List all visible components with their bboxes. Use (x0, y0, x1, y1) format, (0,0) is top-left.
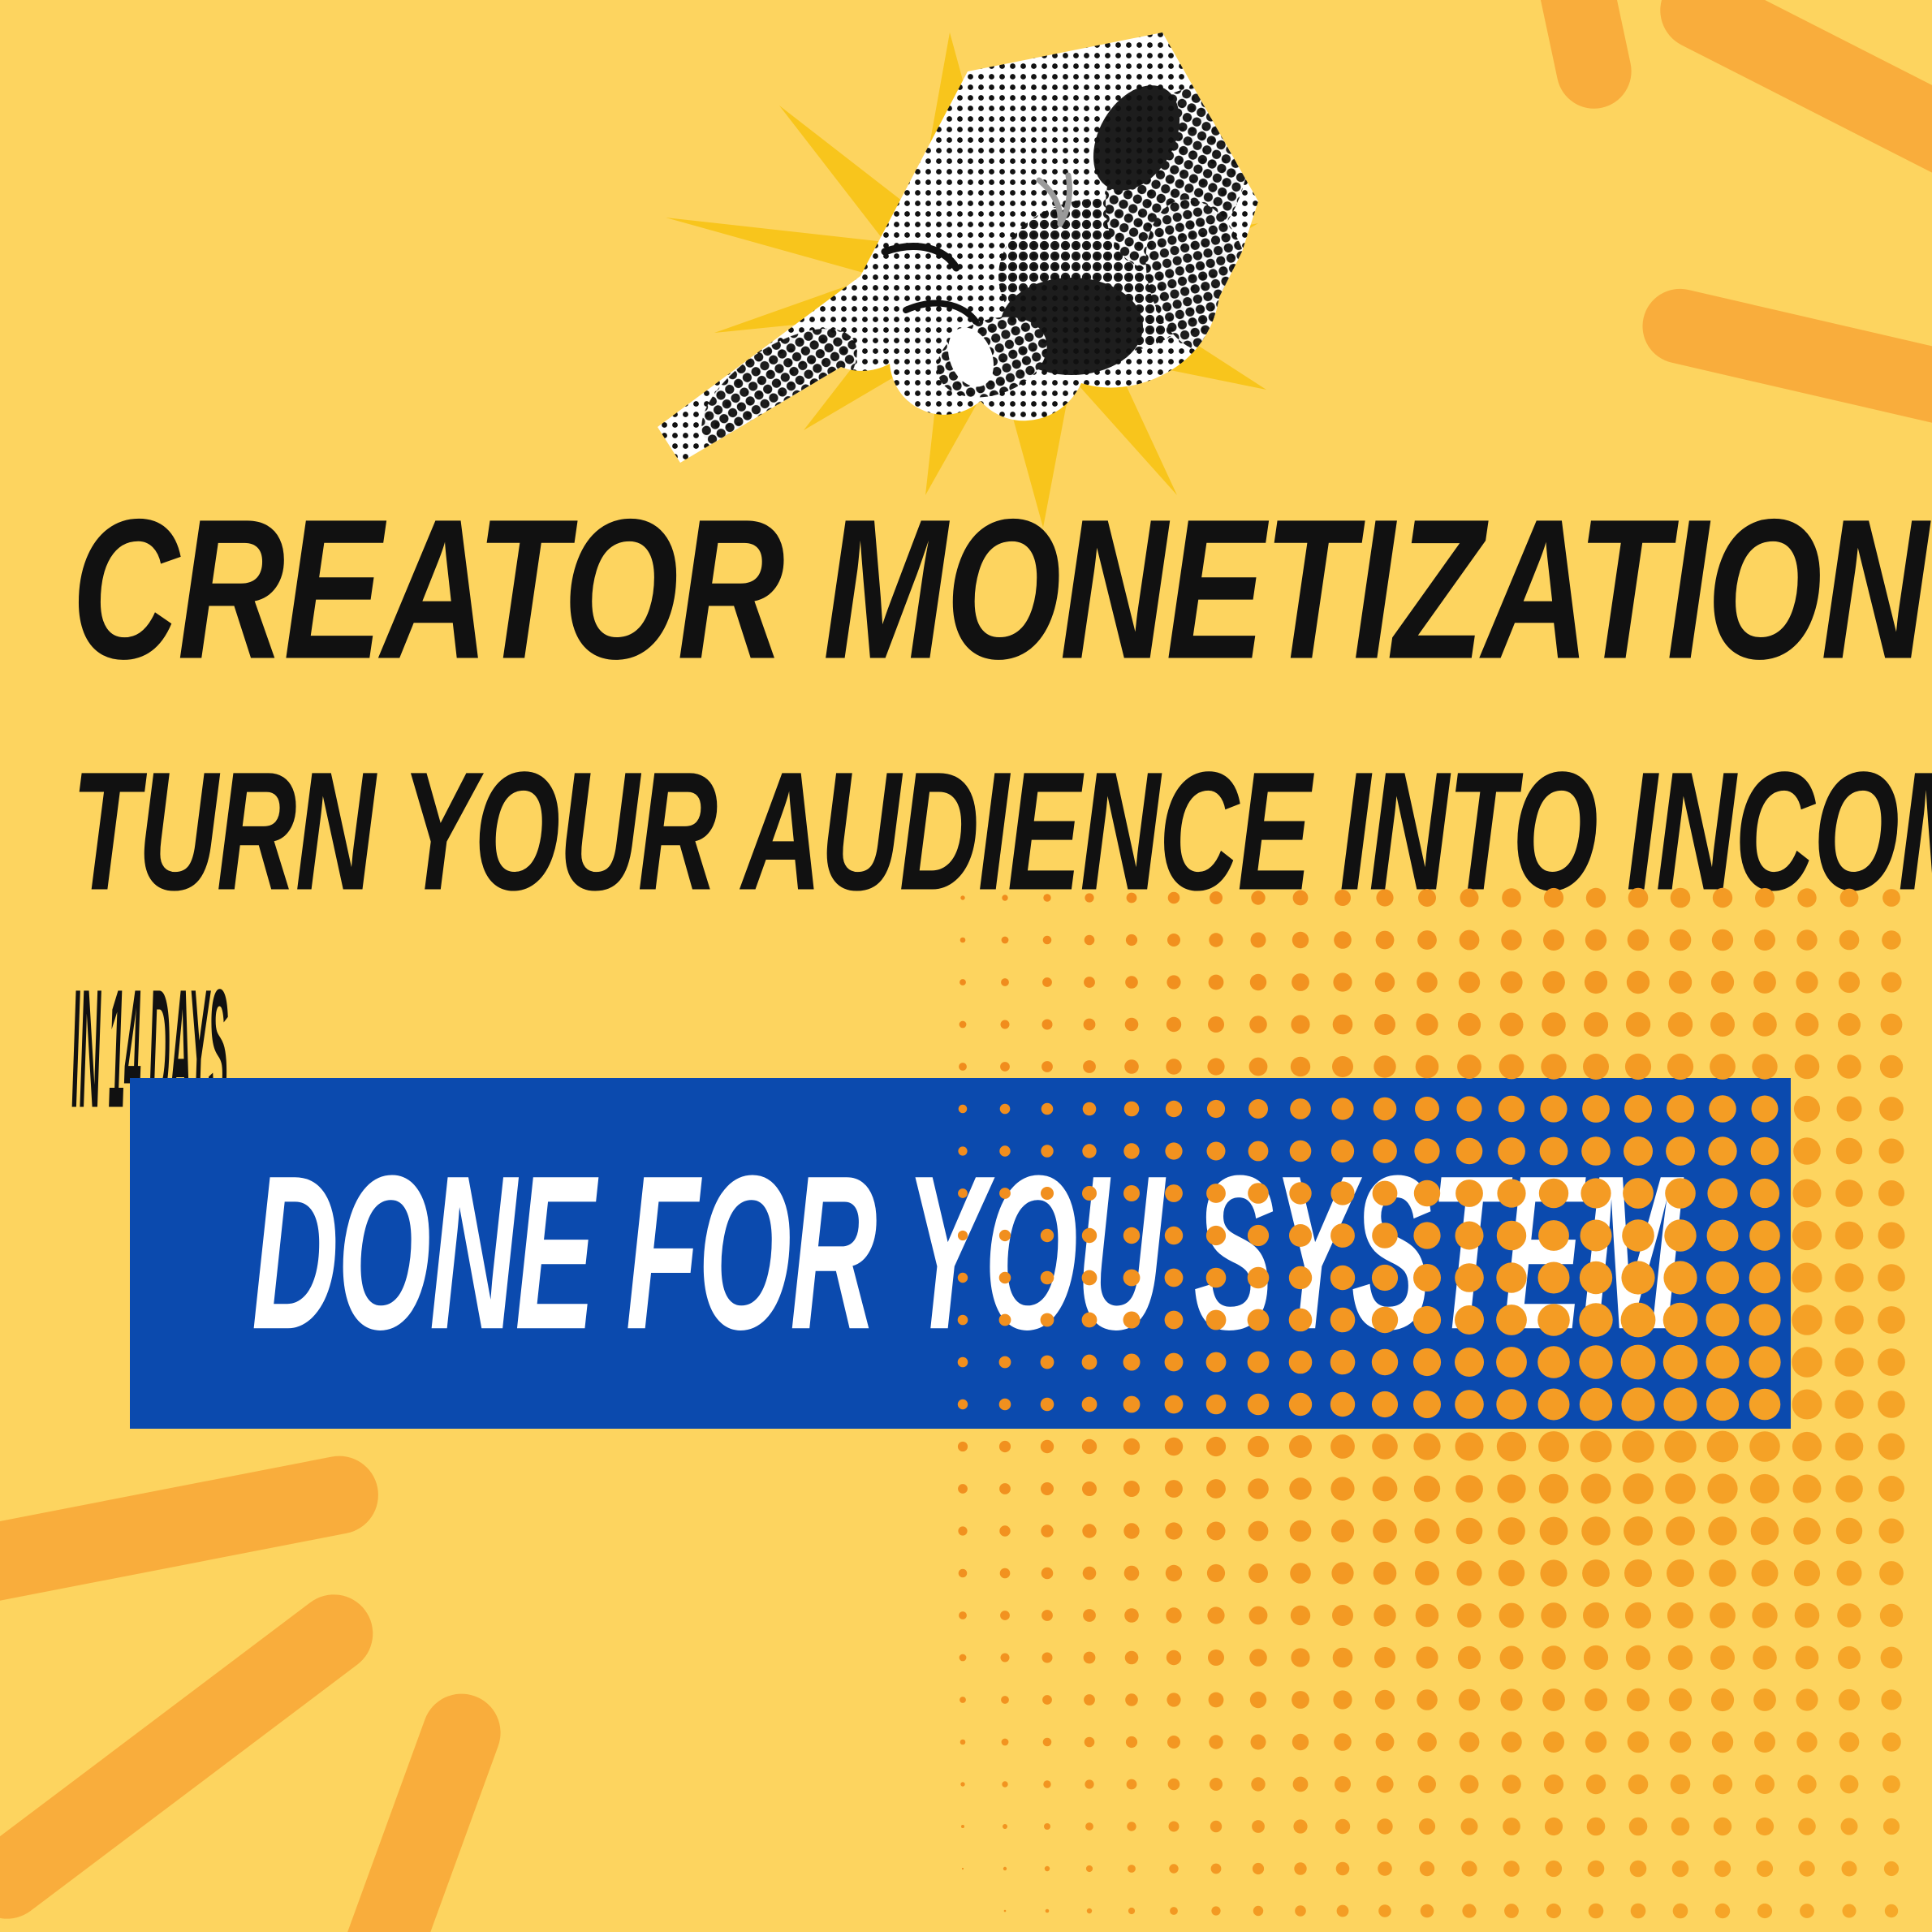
headline-line-1: CREATOR MONETIZATION SETUP (71, 489, 1793, 689)
decorative-stroke (1647, 0, 1932, 234)
banner-label: DONE FOR YOU SYSTEM (252, 1144, 1680, 1363)
decorative-stroke (1635, 282, 1932, 450)
decorative-stroke (0, 1579, 388, 1932)
headline-line-2: TURN YOUR AUDIENCE INTO INCOME (71, 747, 1611, 916)
halftone-hand-icon (617, 8, 1283, 528)
headline-block: CREATOR MONETIZATION SETUP TURN YOUR AUD… (71, 511, 1874, 1114)
pointing-hand-graphic (617, 8, 1283, 528)
done-for-you-banner: DONE FOR YOU SYSTEM (130, 1078, 1791, 1429)
decorative-stroke (0, 1449, 385, 1609)
decorative-stroke (1515, 0, 1638, 115)
decorative-stroke (333, 1683, 511, 1932)
poster-canvas: CREATOR MONETIZATION SETUP TURN YOUR AUD… (0, 0, 1932, 1932)
